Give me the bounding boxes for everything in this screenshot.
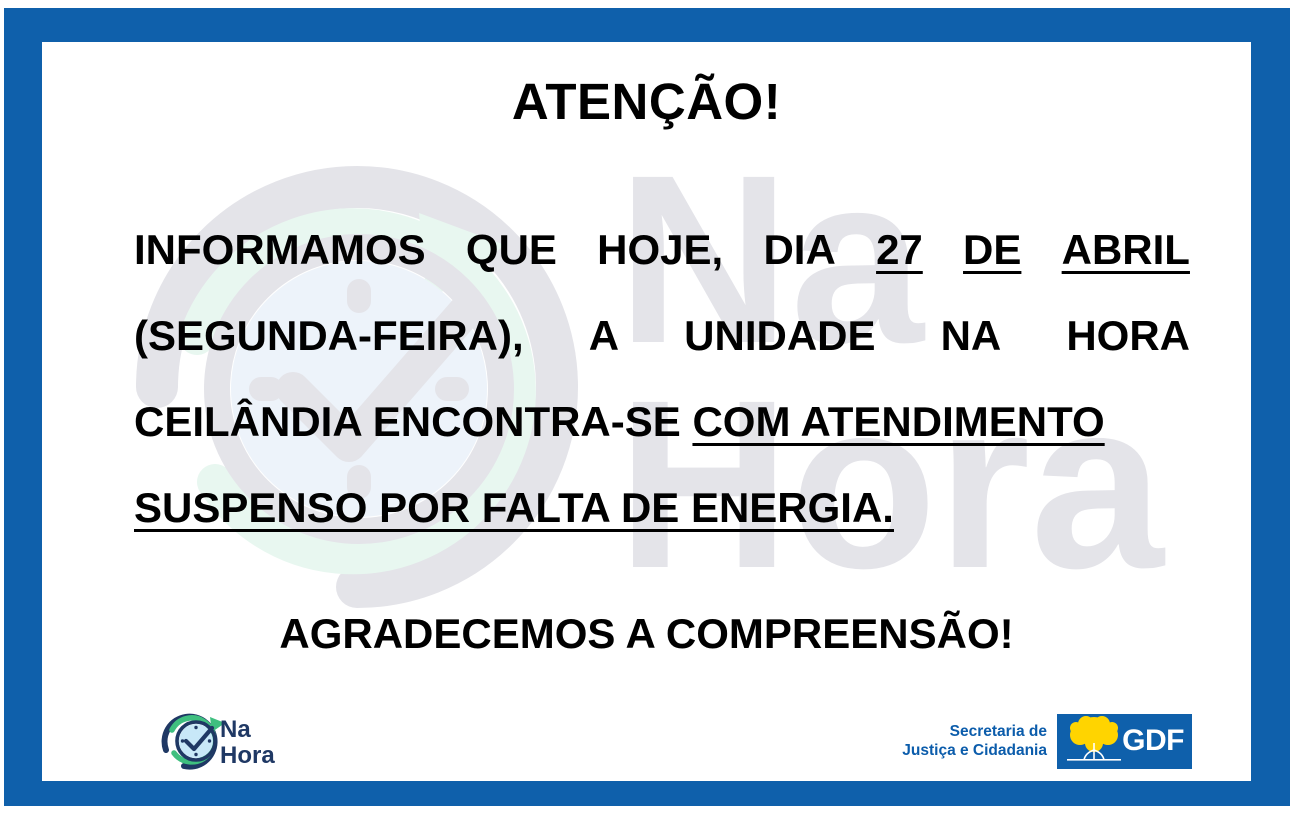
word: UNIDADE bbox=[684, 293, 875, 379]
body-line-4: SUSPENSO POR FALTA DE ENERGIA. bbox=[134, 465, 1190, 551]
secretaria-line2: Justiça e Cidadania bbox=[902, 741, 1047, 760]
na-hora-line1: Na bbox=[220, 716, 251, 743]
word: DIA bbox=[763, 207, 835, 293]
word: (SEGUNDA-FEIRA), bbox=[134, 293, 524, 379]
body-line-3: CEILÂNDIA ENCONTRA-SE COM ATENDIMENTO bbox=[134, 379, 1190, 465]
text-underlined: SUSPENSO POR FALTA DE ENERGIA. bbox=[134, 484, 894, 531]
page-title: ATENÇÃO! bbox=[42, 72, 1251, 131]
word: HORA bbox=[1066, 293, 1190, 379]
gdf-logo-block: Secretaria de Justiça e Cidadania bbox=[862, 710, 1192, 772]
na-hora-logo-svg: Na Hora bbox=[154, 710, 354, 772]
closing-message: AGRADECEMOS A COMPREENSÃO! bbox=[42, 610, 1251, 658]
body-line-1: INFORMAMOS QUE HOJE, DIA 27 DE ABRIL bbox=[134, 207, 1190, 293]
clock-check-icon bbox=[165, 717, 225, 767]
word: QUE bbox=[466, 207, 557, 293]
gdf-badge: GDF bbox=[1057, 714, 1192, 769]
secretaria-line1: Secretaria de bbox=[902, 722, 1047, 741]
notice-card: Na Hora ATENÇÃO! INFORMAMOS QUE HOJE, DI… bbox=[42, 42, 1251, 781]
word-underlined: DE bbox=[963, 207, 1021, 293]
word-underlined: 27 bbox=[876, 207, 923, 293]
word: INFORMAMOS bbox=[134, 207, 426, 293]
notice-body: INFORMAMOS QUE HOJE, DIA 27 DE ABRIL (SE… bbox=[134, 207, 1190, 551]
word: HOJE, bbox=[597, 207, 723, 293]
gdf-wordmark: GDF bbox=[1122, 724, 1184, 758]
word-underlined: ABRIL bbox=[1062, 207, 1190, 293]
ipe-tree-icon bbox=[1063, 714, 1125, 769]
word: NA bbox=[941, 293, 1002, 379]
notice-blue-frame: Na Hora ATENÇÃO! INFORMAMOS QUE HOJE, DI… bbox=[4, 8, 1290, 806]
text-plain: CEILÂNDIA ENCONTRA-SE bbox=[134, 398, 692, 445]
secretaria-text: Secretaria de Justiça e Cidadania bbox=[902, 722, 1047, 760]
body-line-2: (SEGUNDA-FEIRA), A UNIDADE NA HORA bbox=[134, 293, 1190, 379]
na-hora-wordmark: Na Hora bbox=[220, 716, 275, 769]
word: A bbox=[589, 293, 619, 379]
text-underlined: COM ATENDIMENTO bbox=[692, 398, 1104, 445]
na-hora-line2: Hora bbox=[220, 742, 275, 769]
na-hora-logo: Na Hora bbox=[154, 710, 354, 772]
